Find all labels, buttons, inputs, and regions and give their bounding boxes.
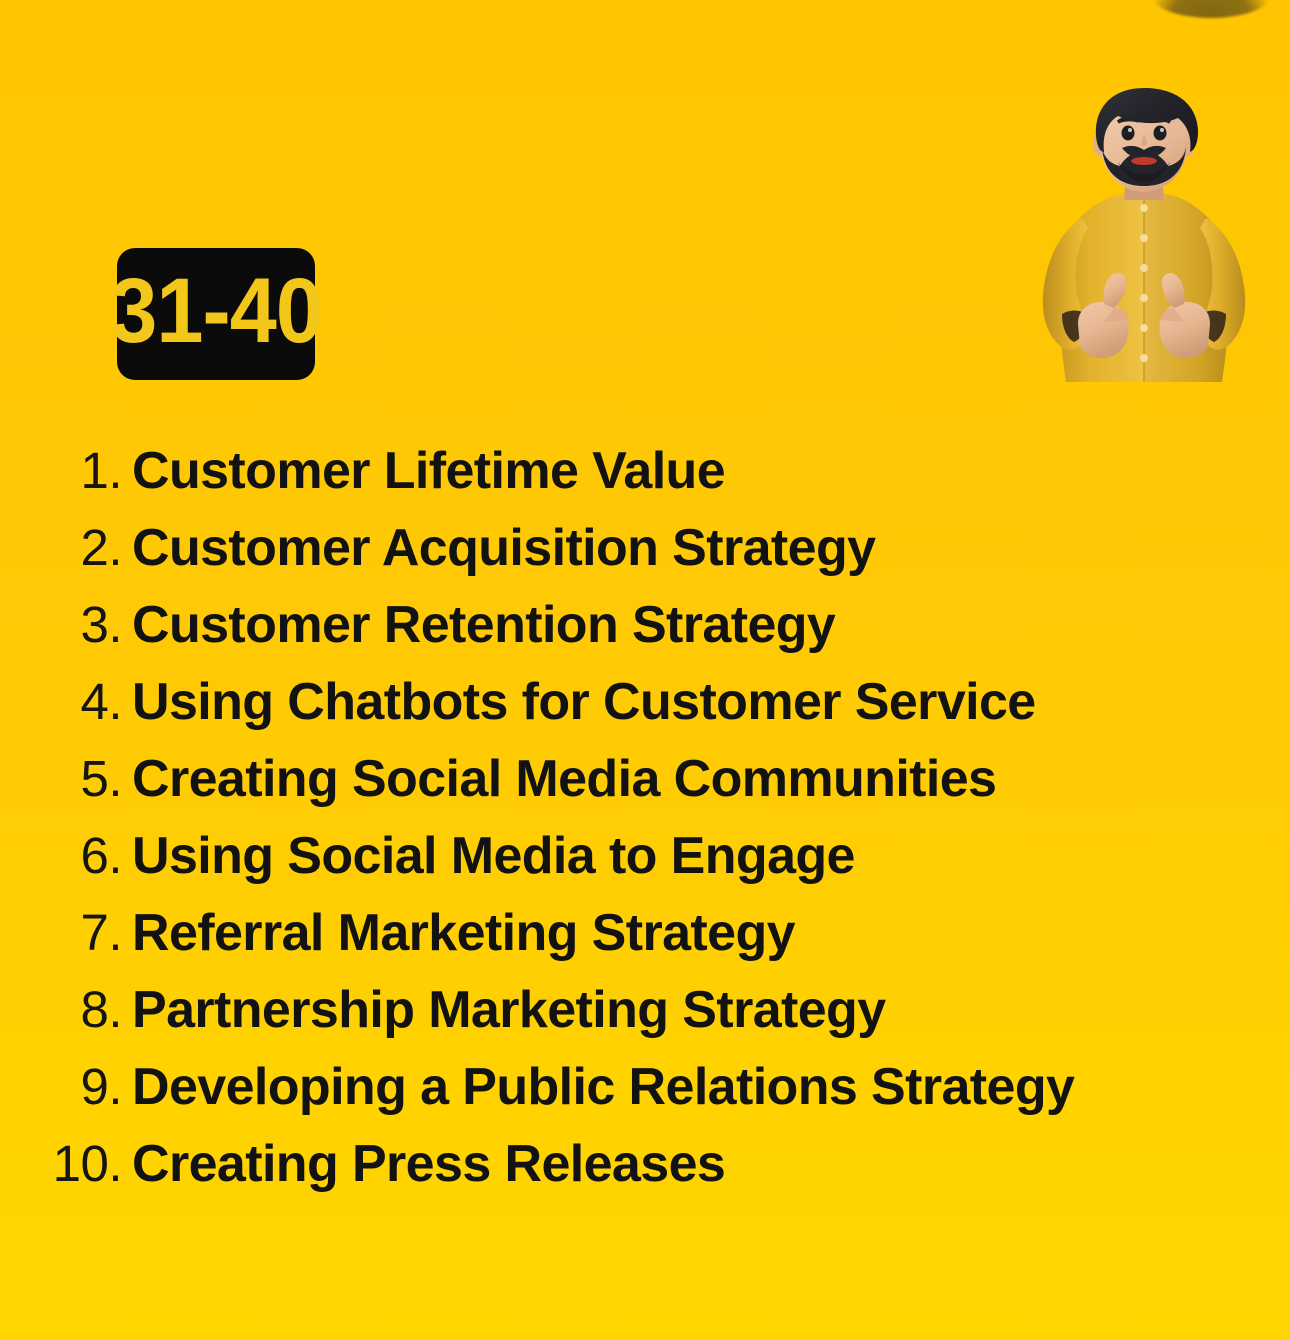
list-item: 9. Developing a Public Relations Strateg…	[0, 1048, 1290, 1125]
poster-canvas: 31-40 1. Customer Lifetime Value 2. Cust…	[0, 0, 1290, 1340]
list-item-number: 3.	[0, 586, 122, 663]
list-item-label: Customer Retention Strategy	[132, 587, 835, 664]
list-item-number: 2.	[0, 509, 122, 586]
list-item-label: Partnership Marketing Strategy	[132, 972, 886, 1049]
list-item: 5. Creating Social Media Communities	[0, 740, 1290, 817]
list-item: 10. Creating Press Releases	[0, 1125, 1290, 1202]
list-item-number: 9.	[0, 1048, 122, 1125]
list-item: 7. Referral Marketing Strategy	[0, 894, 1290, 971]
list-item-number: 1.	[0, 432, 122, 509]
list-item-number: 8.	[0, 971, 122, 1048]
list-item-label: Customer Acquisition Strategy	[132, 510, 875, 587]
list-item-number: 7.	[0, 894, 122, 971]
list-item: 1. Customer Lifetime Value	[0, 432, 1290, 509]
range-badge: 31-40	[117, 248, 315, 380]
topic-list: 1. Customer Lifetime Value 2. Customer A…	[0, 432, 1290, 1202]
cut-off-head-top-icon	[1150, 0, 1272, 18]
list-item: 2. Customer Acquisition Strategy	[0, 509, 1290, 586]
list-item-label: Using Social Media to Engage	[132, 818, 855, 895]
range-badge-label: 31-40	[110, 265, 322, 363]
list-item: 6. Using Social Media to Engage	[0, 817, 1290, 894]
list-item-number: 6.	[0, 817, 122, 894]
list-item-label: Creating Press Releases	[132, 1126, 725, 1203]
list-item: 4. Using Chatbots for Customer Service	[0, 663, 1290, 740]
illustration-3d-man-thumbs-up	[1018, 82, 1270, 382]
list-item-label: Creating Social Media Communities	[132, 741, 996, 818]
list-item-number: 10.	[0, 1125, 122, 1202]
list-item-number: 5.	[0, 740, 122, 817]
list-item-label: Referral Marketing Strategy	[132, 895, 795, 972]
list-item-label: Developing a Public Relations Strategy	[132, 1049, 1074, 1126]
list-item-number: 4.	[0, 663, 122, 740]
list-item: 3. Customer Retention Strategy	[0, 586, 1290, 663]
list-item: 8. Partnership Marketing Strategy	[0, 971, 1290, 1048]
list-item-label: Using Chatbots for Customer Service	[132, 664, 1036, 741]
list-item-label: Customer Lifetime Value	[132, 433, 725, 510]
